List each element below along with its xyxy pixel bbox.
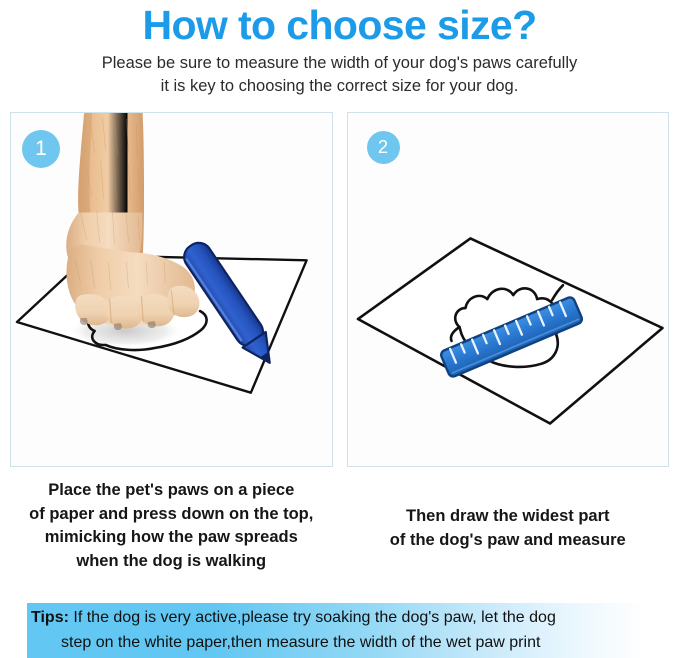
tips-line-2: step on the white paper,then measure the… xyxy=(31,630,641,655)
step-panel-1: 1 xyxy=(10,112,333,467)
subtitle-line-1: Please be sure to measure the width of y… xyxy=(40,52,640,75)
subtitle-line-2: it is key to choosing the correct size f… xyxy=(40,75,640,98)
step-badge-1: 1 xyxy=(22,130,60,168)
tips-line-1: Tips: If the dog is very active,please t… xyxy=(31,605,641,630)
illustration-paw-on-paper-with-pen xyxy=(11,113,331,466)
page-title: How to choose size? xyxy=(0,2,679,48)
steps-panel-row: 1 xyxy=(0,112,679,467)
step-badge-2: 2 xyxy=(367,131,400,164)
caption-2-line-2: of the dog's paw and measure xyxy=(347,529,670,553)
caption-1-line-3: mimicking how the paw spreads xyxy=(10,526,333,550)
dog-paw xyxy=(66,113,199,330)
illustration-paw-outline-with-ruler xyxy=(348,113,668,466)
step-caption-2: Then draw the widest part of the dog's p… xyxy=(347,479,670,573)
step-panel-2: 2 xyxy=(347,112,670,467)
tips-banner: Tips: If the dog is very active,please t… xyxy=(27,603,645,658)
tips-text-1: If the dog is very active,please try soa… xyxy=(69,609,556,626)
step-caption-1: Place the pet's paws on a piece of paper… xyxy=(10,479,333,573)
captions-row: Place the pet's paws on a piece of paper… xyxy=(0,479,679,573)
tips-label: Tips: xyxy=(31,609,69,626)
page-subtitle: Please be sure to measure the width of y… xyxy=(40,52,640,98)
caption-1-line-2: of paper and press down on the top, xyxy=(10,503,333,527)
caption-1-line-4: when the dog is walking xyxy=(10,550,333,574)
caption-2-line-1: Then draw the widest part xyxy=(347,505,670,529)
tips-container: Tips: If the dog is very active,please t… xyxy=(27,603,645,658)
header: How to choose size? Please be sure to me… xyxy=(0,0,679,98)
caption-1-line-1: Place the pet's paws on a piece xyxy=(10,479,333,503)
